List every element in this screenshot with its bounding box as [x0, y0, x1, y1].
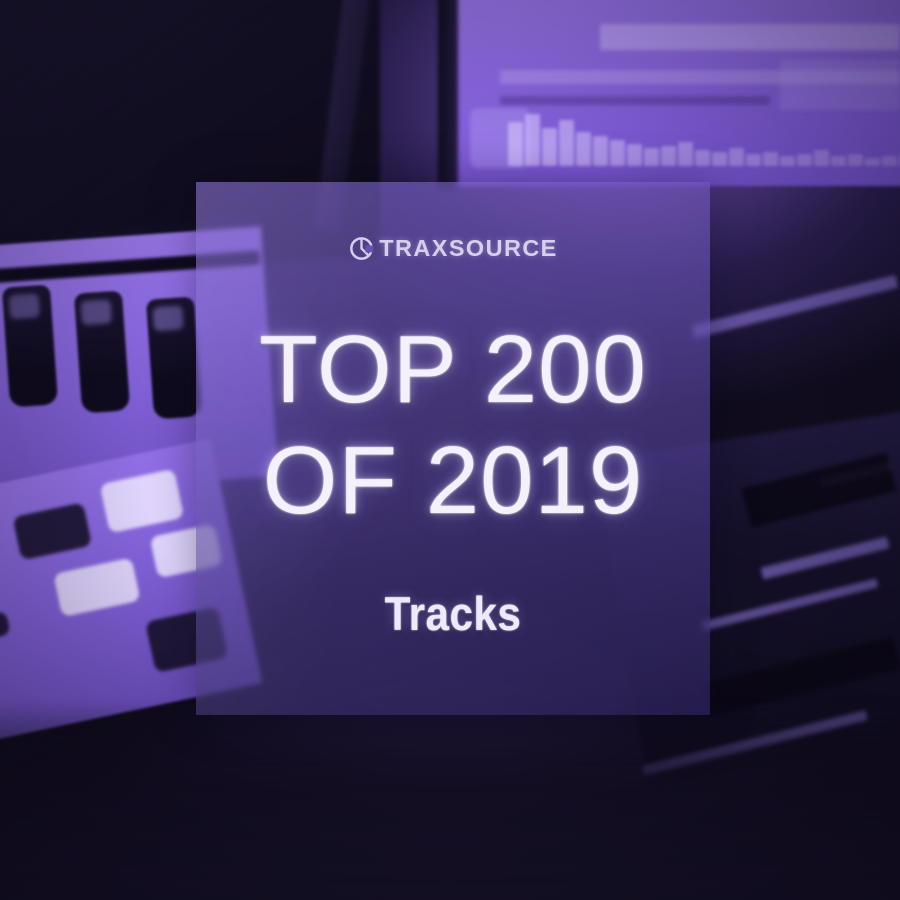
brand-logo: TRAXSOURCE	[196, 236, 710, 261]
traxsource-circle-icon	[349, 236, 374, 261]
brand-wordmark: TRAXSOURCE	[380, 237, 559, 260]
headline-line-2: OF 2019	[196, 425, 710, 536]
subtitle: Tracks	[222, 586, 685, 641]
headline: TOP 200 OF 2019	[196, 314, 710, 537]
title-card: TRAXSOURCE TOP 200 OF 2019 Tracks	[196, 182, 710, 715]
album-artwork: TRAXSOURCE TOP 200 OF 2019 Tracks	[0, 0, 900, 900]
headline-line-1: TOP 200	[259, 316, 647, 423]
